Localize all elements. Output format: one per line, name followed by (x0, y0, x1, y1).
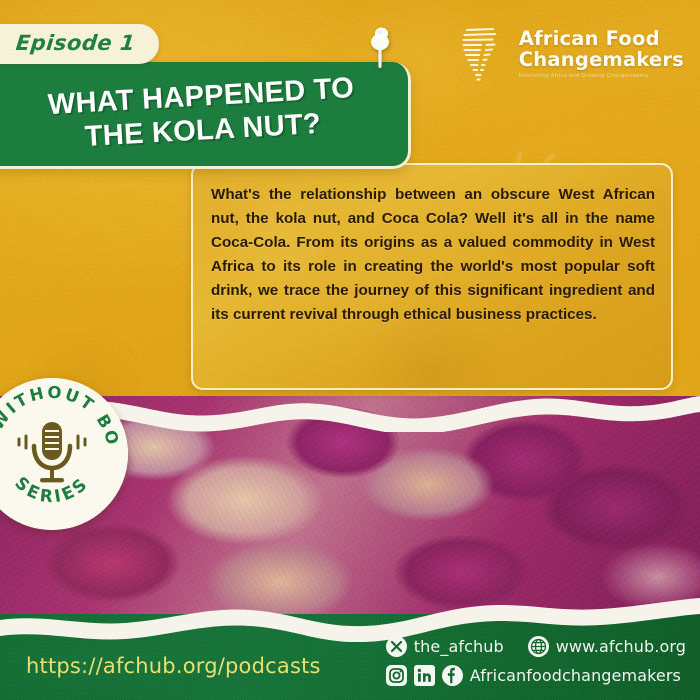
pushpin-icon (366, 26, 394, 70)
podcast-episode-poster: Episode 1 WHAT HAPPENED TO THE KOLA NUT?… (0, 0, 700, 700)
social-links: the_afchub www.afchub.org (386, 636, 686, 686)
brand-name-line1: African Food (519, 29, 684, 49)
episode-description-card: What's the relationship between an obscu… (191, 163, 673, 390)
episode-badge-label: Episode 1 (15, 31, 137, 55)
social-row-1: the_afchub www.afchub.org (386, 636, 686, 657)
facebook-icon[interactable] (442, 665, 463, 686)
globe-icon[interactable] (528, 636, 549, 657)
africa-map-icon (452, 24, 510, 84)
episode-description-text: What's the relationship between an obscu… (193, 165, 671, 327)
social-handle-facebook[interactable]: Africanfoodchangemakers (470, 666, 681, 685)
brand-wordmark: African Food Changemakers Nourishing Afr… (519, 29, 684, 79)
brand-name-line2: Changemakers (519, 50, 684, 70)
social-website-url[interactable]: www.afchub.org (556, 637, 686, 656)
series-badge: PLATES WITHOUT BORDERS SERIES (0, 378, 128, 530)
podcast-url-link[interactable]: https://afchub.org/podcasts (26, 654, 321, 678)
brand-logo: African Food Changemakers Nourishing Afr… (452, 24, 684, 84)
episode-title-card: WHAT HAPPENED TO THE KOLA NUT? (0, 62, 411, 169)
brand-tagline: Nourishing Africa and Growing Changemake… (519, 74, 684, 79)
linkedin-icon[interactable] (414, 665, 435, 686)
episode-badge: Episode 1 (0, 24, 159, 64)
social-handle-x[interactable]: the_afchub (414, 637, 504, 656)
social-row-2: Africanfoodchangemakers (386, 665, 686, 686)
instagram-icon[interactable] (386, 665, 407, 686)
x-twitter-icon[interactable] (386, 636, 407, 657)
